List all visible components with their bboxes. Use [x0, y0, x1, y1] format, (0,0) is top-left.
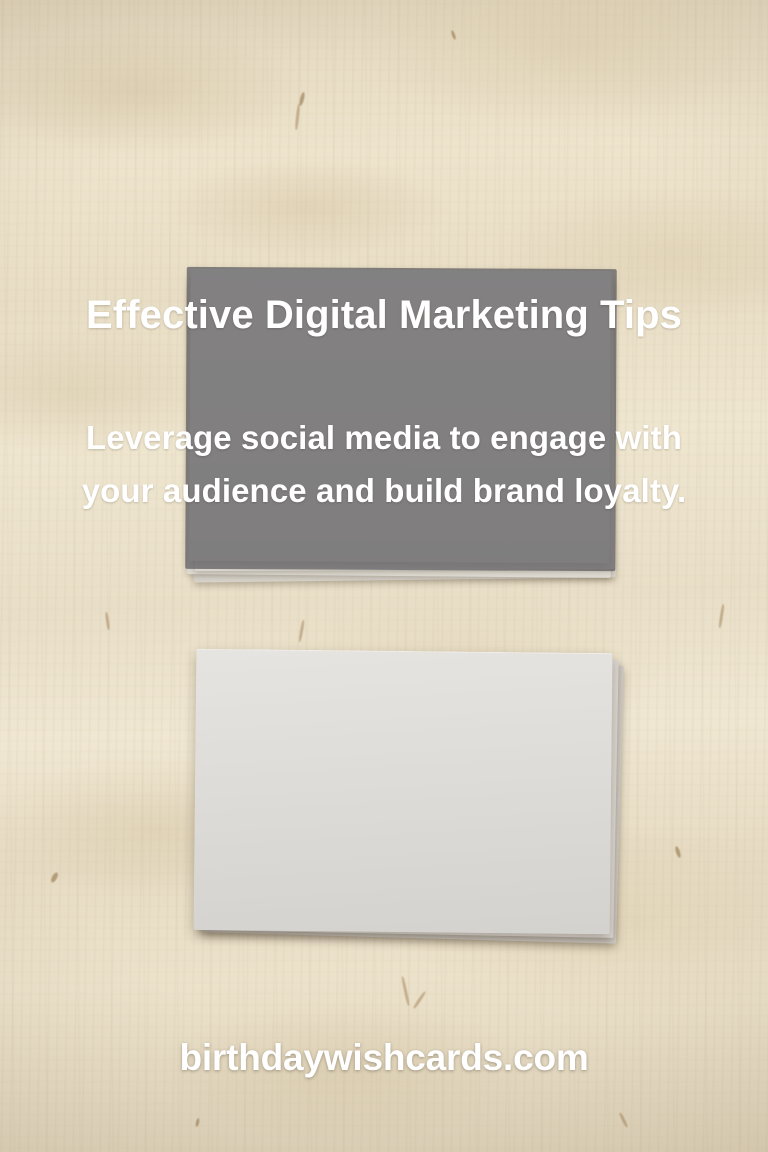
bottom-card-stack — [190, 646, 622, 946]
site-url-label: birthdaywishcards.com — [0, 1036, 768, 1080]
tip-description: Leverage social media to engage with you… — [0, 411, 768, 517]
page-title: Effective Digital Marketing Tips — [0, 291, 768, 340]
poster-canvas: Effective Digital Marketing Tips Leverag… — [0, 0, 768, 1152]
card-sheet-top — [194, 649, 613, 934]
